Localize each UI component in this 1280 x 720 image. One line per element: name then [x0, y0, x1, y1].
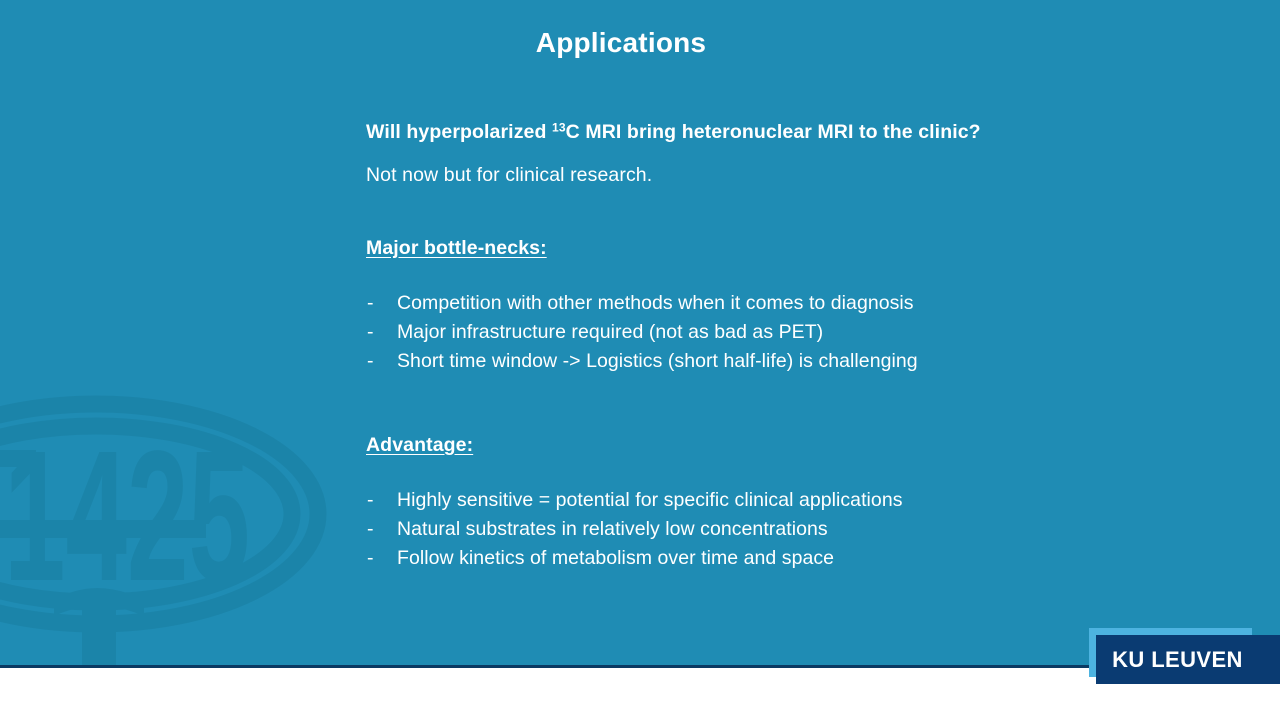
- list-item-label: Natural substrates in relatively low con…: [397, 518, 828, 540]
- list-item: - Highly sensitive = potential for speci…: [366, 486, 1226, 515]
- page-title: Applications: [0, 27, 1242, 59]
- spacer-after-bottlenecks-heading: [366, 260, 1226, 289]
- list-item: - Short time window -> Logistics (short …: [366, 347, 1226, 376]
- ku-leuven-logo: KU LEUVEN: [1089, 628, 1280, 690]
- bullet-dash-icon: -: [367, 515, 374, 544]
- spacer-after-advantage-heading: [366, 457, 1226, 486]
- list-item: - Follow kinetics of metabolism over tim…: [366, 544, 1226, 573]
- slide-canvas: 1425 Applications Will hyperpolarized 13…: [0, 0, 1280, 667]
- slide-body: Will hyperpolarized 13C MRI bring hetero…: [366, 120, 1226, 573]
- spacer-before-advantage: [366, 376, 1226, 434]
- logo-text: KU LEUVEN: [1096, 635, 1259, 684]
- section-major-bottlenecks: Major bottle-necks: - Competition with o…: [366, 237, 1226, 376]
- lead-question-prefix: Will hyperpolarized: [366, 121, 552, 143]
- list-item: - Competition with other methods when it…: [366, 289, 1226, 318]
- lead-question: Will hyperpolarized 13C MRI bring hetero…: [366, 120, 1226, 145]
- carbon-13-superscript: 13: [552, 121, 566, 135]
- footer-strip: [0, 668, 1280, 720]
- bullet-dash-icon: -: [367, 289, 374, 318]
- bullet-dash-icon: -: [367, 486, 374, 515]
- section-advantage: Advantage: - Highly sensitive = potentia…: [366, 434, 1226, 573]
- bullet-dash-icon: -: [367, 318, 374, 347]
- svg-text:1425: 1425: [4, 413, 250, 620]
- lead-answer: Not now but for clinical research.: [366, 163, 1226, 188]
- spacer-before-bottlenecks: [366, 188, 1226, 237]
- bullet-list-major-bottlenecks: - Competition with other methods when it…: [366, 289, 1226, 376]
- bullet-list-advantage: - Highly sensitive = potential for speci…: [366, 486, 1226, 573]
- ku-leuven-1425-watermark-icon: 1425: [0, 392, 338, 667]
- list-item-label: Highly sensitive = potential for specifi…: [397, 489, 903, 511]
- bullet-dash-icon: -: [367, 544, 374, 573]
- bullet-dash-icon: -: [367, 347, 374, 376]
- presentation-slide: 1425 Applications Will hyperpolarized 13…: [0, 0, 1280, 720]
- list-item: - Natural substrates in relatively low c…: [366, 515, 1226, 544]
- list-item: - Major infrastructure required (not as …: [366, 318, 1226, 347]
- section-heading-major-bottlenecks: Major bottle-necks:: [366, 237, 1226, 260]
- lead-question-suffix: C MRI bring heteronuclear MRI to the cli…: [566, 121, 981, 143]
- list-item-label: Follow kinetics of metabolism over time …: [397, 547, 834, 569]
- list-item-label: Major infrastructure required (not as ba…: [397, 321, 823, 343]
- list-item-label: Competition with other methods when it c…: [397, 292, 914, 314]
- list-item-label: Short time window -> Logistics (short ha…: [397, 350, 918, 372]
- section-heading-advantage: Advantage:: [366, 434, 1226, 457]
